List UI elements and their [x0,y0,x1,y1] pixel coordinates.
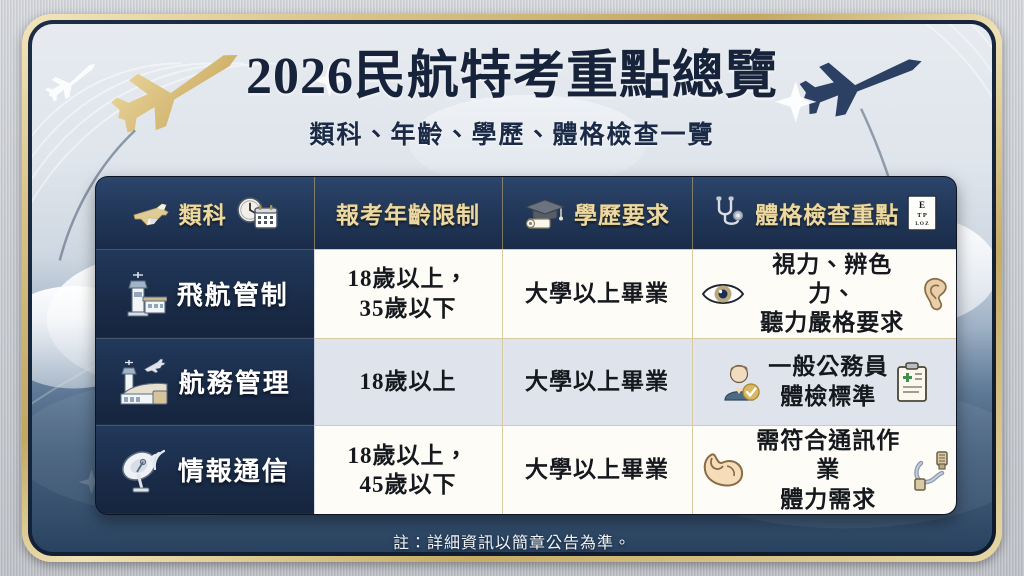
column-header-physical: 體格檢查重點 E T P L O Z [692,177,957,249]
airport-terminal-icon [119,358,169,406]
page-subtitle: 類科、年齡、學歷、體格檢查一覽 [32,115,992,151]
cell-education: 大學以上畢業 [502,425,692,514]
svg-text:E: E [919,200,925,210]
cell-category: 飛航管制 [96,249,314,338]
medical-clipboard-icon [895,361,929,403]
satellite-dish-icon [120,447,168,493]
navy-inner-border: 2026民航特考重點總覽 類科、年齡、學歷、體格檢查一覽 [28,20,996,556]
cell-physical: 視力、辨色力、 聽力嚴格要求 [692,249,957,338]
gold-frame-border: 2026民航特考重點總覽 類科、年齡、學歷、體格檢查一覽 [22,14,1002,562]
category-label: 情報通信 [178,451,290,488]
category-label: 飛航管制 [177,275,289,312]
education-value: 大學以上畢業 [511,455,684,484]
table-row: 航務管理 18歲以上 大學以上畢業 [96,338,957,425]
column-header-age: 報考年齡限制 [314,177,502,249]
cell-education: 大學以上畢業 [502,338,692,425]
physical-value: 一般公務員 體檢標準 [768,352,888,411]
physical-value: 需符合通訊作業 體力需求 [752,426,906,514]
cell-age: 18歲以上， 35歲以下 [314,249,502,338]
cell-age: 18歲以上 [314,338,502,425]
summary-table-container: 類科 [95,176,957,515]
age-value: 18歲以上， 45歲以下 [323,441,494,500]
airplane-icon [131,198,171,228]
cell-category: 航務管理 [96,338,314,425]
table-row: 情報通信 18歲以上， 45歲以下 大學以上畢業 [96,425,957,514]
age-value: 18歲以上 [323,367,494,396]
page-title: 2026民航特考重點總覽 [32,48,992,106]
table-row: 飛航管制 18歲以上， 35歲以下 大學以上畢業 [96,249,957,338]
graduation-diploma-icon [524,196,566,230]
cell-age: 18歲以上， 45歲以下 [314,425,502,514]
cell-physical: 需符合通訊作業 體力需求 [692,425,957,514]
footnote-text: 註：詳細資訊以簡章公告為準。 [32,529,992,552]
summary-table: 類科 [96,177,957,514]
column-header-category-label: 類科 [179,196,227,230]
infographic-stage: 2026民航特考重點總覽 類科、年齡、學歷、體格檢查一覽 [0,0,1024,576]
sky-background: 2026民航特考重點總覽 類科、年齡、學歷、體格檢查一覽 [32,24,992,552]
clock-calendar-icon [235,196,279,230]
physical-value: 視力、辨色力、 聽力嚴格要求 [752,250,914,338]
column-header-education: 學歷要求 [502,177,692,249]
header-block: 2026民航特考重點總覽 類科、年齡、學歷、體格檢查一覽 [32,48,992,151]
eye-icon [701,279,745,309]
svg-text:T P: T P [917,212,927,219]
cell-category: 情報通信 [96,425,314,514]
svg-text:L O Z: L O Z [916,221,930,227]
eye-chart-icon: E T P L O Z [907,195,937,231]
education-value: 大學以上畢業 [511,367,684,396]
column-header-category: 類科 [96,177,314,249]
person-check-icon [721,362,761,402]
stethoscope-icon [713,195,747,231]
table-header-row: 類科 [96,177,957,249]
column-header-physical-label: 體格檢查重點 [755,196,899,230]
table-header: 類科 [96,177,957,249]
column-header-education-label: 學歷要求 [574,196,670,230]
control-tower-icon [121,270,167,318]
column-header-age-label: 報考年齡限制 [336,196,480,230]
education-value: 大學以上畢業 [511,279,684,308]
table-body: 飛航管制 18歲以上， 35歲以下 大學以上畢業 [96,249,957,514]
age-value: 18歲以上， 35歲以下 [323,264,494,323]
cable-connector-icon [912,449,950,491]
cell-education: 大學以上畢業 [502,249,692,338]
cell-physical: 一般公務員 體檢標準 [692,338,957,425]
category-label: 航務管理 [179,363,291,400]
ear-icon [920,275,950,313]
flexed-bicep-icon [701,450,745,490]
